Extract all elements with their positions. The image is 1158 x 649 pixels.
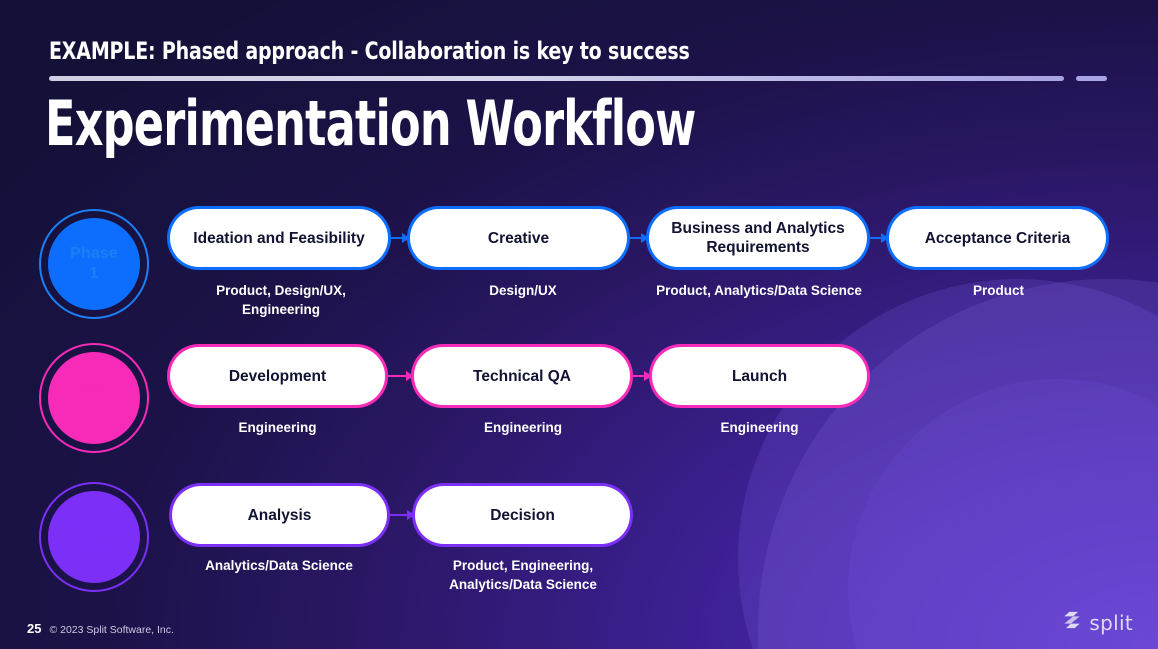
- workflow-step-pill[interactable]: Ideation and Feasibility: [170, 209, 388, 267]
- workflow-step-label: Business and Analytics Requirements: [665, 219, 851, 257]
- header-divider: [49, 76, 1106, 81]
- phase-circle-label: Phase3: [70, 517, 118, 557]
- workflow-step-label: Decision: [490, 506, 555, 525]
- slide-canvas: EXAMPLE: Phased approach - Collaboration…: [0, 0, 1158, 649]
- workflow-arrow-icon: [388, 233, 410, 243]
- arrow-shaft: [630, 375, 644, 377]
- phase-circle-label: Phase1: [70, 244, 118, 284]
- phase-circle-2[interactable]: Phase2: [39, 343, 149, 453]
- phase-number: 2: [89, 399, 98, 416]
- phase-word: Phase: [70, 245, 118, 262]
- arrow-head: [402, 233, 410, 243]
- phase-circle-label: Phase2: [70, 378, 118, 418]
- workflow-step-label: Technical QA: [473, 367, 571, 386]
- phase-word: Phase: [70, 379, 118, 396]
- split-logo-text: split: [1089, 611, 1133, 635]
- workflow-step-pill[interactable]: Technical QA: [414, 347, 630, 405]
- workflow-step-label: Ideation and Feasibility: [193, 229, 364, 248]
- workflow-arrow-icon: [630, 371, 652, 381]
- divider-short-segment: [1076, 76, 1107, 81]
- phase-circle-1[interactable]: Phase1: [39, 209, 149, 319]
- arrow-shaft: [867, 237, 881, 239]
- workflow-step-caption: Product, Design/UX, Engineering: [181, 281, 381, 319]
- workflow-step-caption: Design/UX: [415, 281, 631, 300]
- page-number: 25: [27, 621, 41, 636]
- workflow-step-pill[interactable]: Analysis: [172, 486, 387, 544]
- copyright-text: © 2023 Split Software, Inc.: [49, 624, 173, 636]
- workflow-step-label: Creative: [488, 229, 549, 248]
- workflow-step-caption: Engineering: [652, 418, 867, 437]
- split-logo-icon: [1061, 609, 1083, 636]
- workflow-step-caption: Engineering: [170, 418, 385, 437]
- workflow-step-pill[interactable]: Creative: [410, 209, 627, 267]
- arrow-head: [406, 371, 414, 381]
- workflow-step-label: Development: [229, 367, 326, 386]
- workflow-step-caption: Analytics/Data Science: [168, 556, 390, 575]
- phase-number: 3: [89, 538, 98, 555]
- arrow-head: [644, 371, 652, 381]
- arrow-shaft: [387, 514, 407, 516]
- workflow-step-label: Launch: [732, 367, 787, 386]
- split-logo: split: [1061, 609, 1133, 636]
- arrow-shaft: [388, 237, 402, 239]
- phase-circle-3[interactable]: Phase3: [39, 482, 149, 592]
- workflow-step-caption: Product, Analytics/Data Science: [650, 281, 868, 300]
- arrow-head: [407, 510, 415, 520]
- workflow-step-pill[interactable]: Launch: [652, 347, 867, 405]
- workflow-step-pill[interactable]: Development: [170, 347, 385, 405]
- workflow-step-label: Acceptance Criteria: [925, 229, 1071, 248]
- footer-left: 25 © 2023 Split Software, Inc.: [27, 621, 174, 636]
- workflow-step-caption: Product, Engineering, Analytics/Data Sci…: [413, 556, 633, 594]
- arrow-shaft: [385, 375, 406, 377]
- eyebrow-label: EXAMPLE: Phased approach - Collaboration…: [49, 37, 690, 65]
- arrow-shaft: [627, 237, 641, 239]
- workflow-arrow-icon: [627, 233, 649, 243]
- workflow-arrow-icon: [385, 371, 414, 381]
- phase-word: Phase: [70, 518, 118, 535]
- workflow-step-pill[interactable]: Acceptance Criteria: [889, 209, 1106, 267]
- workflow-step-pill[interactable]: Decision: [415, 486, 630, 544]
- workflow-step-caption: Product: [890, 281, 1107, 300]
- workflow-step-pill[interactable]: Business and Analytics Requirements: [649, 209, 867, 267]
- workflow-step-caption: Engineering: [415, 418, 631, 437]
- workflow-step-label: Analysis: [248, 506, 312, 525]
- phase-number: 1: [89, 265, 98, 282]
- workflow-arrow-icon: [867, 233, 889, 243]
- arrow-head: [881, 233, 889, 243]
- page-title: Experimentation Workflow: [45, 89, 696, 159]
- workflow-arrow-icon: [387, 510, 415, 520]
- divider-long-segment: [49, 76, 1064, 81]
- arrow-head: [641, 233, 649, 243]
